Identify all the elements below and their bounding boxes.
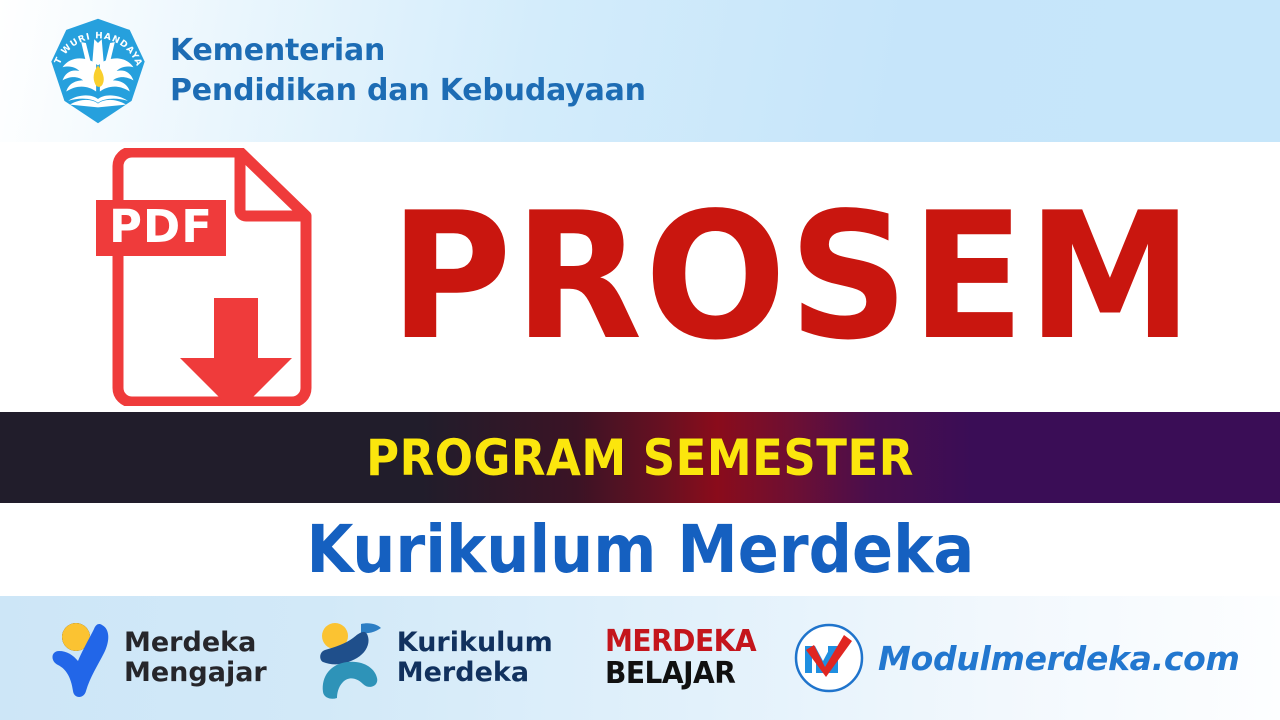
header-banner: TUT WURI HANDAYANI Kementerian Pendidika… xyxy=(0,0,1280,142)
modulmerdeka-m-check-icon xyxy=(792,621,866,695)
mm-line1: Merdeka xyxy=(124,627,256,658)
modulmerdeka-label: Modulmerdeka.com xyxy=(878,639,1240,678)
ministry-title-line2: Pendidikan dan Kebudayaan xyxy=(170,71,646,111)
ministry-title: Kementerian Pendidikan dan Kebudayaan xyxy=(170,31,646,111)
prosem-poster: TUT WURI HANDAYANI Kementerian Pendidika… xyxy=(0,0,1280,720)
kurikulum-merdeka-figure-icon xyxy=(311,616,387,700)
curriculum-subtitle: Kurikulum Merdeka xyxy=(306,511,974,588)
mm-line2: Mengajar xyxy=(124,658,267,688)
mb-line1: MERDEKA xyxy=(605,627,756,657)
footer-logo-merdeka-mengajar: Merdeka Mengajar xyxy=(42,615,267,701)
footer-logo-merdeka-belajar: MERDEKA BELAJAR xyxy=(605,627,750,689)
program-semester-band: PROGRAM SEMESTER xyxy=(0,412,1280,503)
kurikulum-merdeka-label: Kurikulum Merdeka xyxy=(397,628,553,687)
km-line2: Merdeka xyxy=(397,658,553,688)
km-line1: Kurikulum xyxy=(397,627,553,658)
ministry-title-line1: Kementerian xyxy=(170,31,646,71)
subtitle-area: Kurikulum Merdeka xyxy=(0,503,1280,596)
merdeka-belajar-wordmark: MERDEKA BELAJAR xyxy=(605,627,750,689)
merdeka-mengajar-label: Merdeka Mengajar xyxy=(124,628,267,687)
footer-logo-modulmerdeka: Modulmerdeka.com xyxy=(792,621,1240,695)
tut-wuri-handayani-logo: TUT WURI HANDAYANI xyxy=(42,15,154,127)
footer-logo-kurikulum-merdeka: Kurikulum Merdeka xyxy=(311,616,553,700)
mb-line2: BELAJAR xyxy=(605,659,756,689)
main-content: PDF PROSEM xyxy=(0,142,1280,412)
band-title: PROGRAM SEMESTER xyxy=(366,429,914,487)
footer-logo-bar: Merdeka Mengajar Kurikulum Merdeka MERDE… xyxy=(0,596,1280,720)
pdf-download-icon: PDF xyxy=(96,148,328,406)
pdf-icon-label: PDF xyxy=(109,200,213,253)
page-title: PROSEM xyxy=(299,197,1280,358)
merdeka-mengajar-figure-icon xyxy=(42,615,114,701)
